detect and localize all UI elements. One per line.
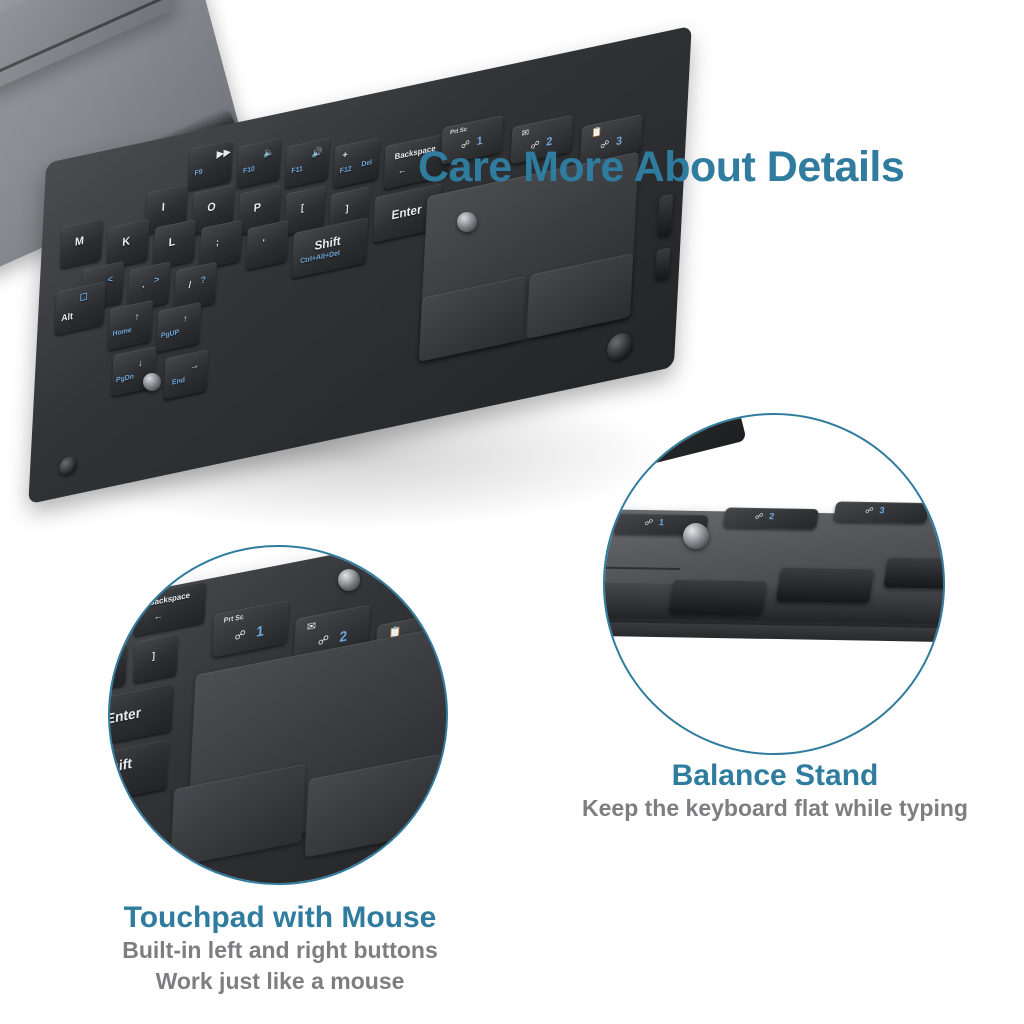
bluetooth-icon: ☍ bbox=[754, 512, 764, 521]
key-l[interactable]: L bbox=[153, 219, 196, 269]
mail-icon: ✉ bbox=[307, 619, 317, 634]
balance-stand-pad bbox=[669, 580, 767, 615]
inset-touchpad-scene: F12 Backspace ← [ ] Enter Shift Ctrl+Alt bbox=[110, 547, 446, 883]
callout-touchpad-caption: Touchpad with Mouse Built-in left and ri… bbox=[10, 900, 550, 996]
inset-balance-stand-circle: 1 ☍ 2 ☍ 3 ☍ Backspace bbox=[603, 413, 945, 755]
inset-pivot-screw bbox=[338, 569, 360, 591]
headline: Care More About Details bbox=[418, 143, 978, 192]
bluetooth-icon: ☍ bbox=[644, 518, 654, 527]
key-alt[interactable]: Alt ☐ bbox=[55, 281, 106, 335]
bluetooth-icon: ☍ bbox=[318, 633, 330, 649]
balance-stand-pad bbox=[776, 568, 874, 603]
prtsc-legend: Prt Sc bbox=[224, 614, 244, 625]
key-quote[interactable]: ' bbox=[246, 220, 289, 270]
key-f10[interactable]: F10 🔈 bbox=[236, 138, 281, 189]
bluetooth-number-3: 3 bbox=[879, 505, 886, 515]
bluetooth-number-2: 2 bbox=[339, 627, 348, 645]
bluetooth-number-1: 1 bbox=[256, 622, 265, 640]
balance-pivot-screw bbox=[683, 523, 709, 549]
callout-touchpad-subtitle-2: Work just like a mouse bbox=[10, 966, 550, 996]
balance-stand-pad bbox=[883, 558, 943, 589]
prtsc-legend: Prt Sc bbox=[450, 127, 467, 137]
inset-balance-scene: 1 ☍ 2 ☍ 3 ☍ Backspace bbox=[605, 415, 943, 753]
product-feature-graphic: F9 ▶▶ F10 🔈 F11 🔊 F12 Del + Backspac bbox=[0, 0, 1024, 1024]
key-f11[interactable]: F11 🔊 bbox=[285, 137, 330, 188]
callout-balance-title: Balance Stand bbox=[540, 758, 1010, 793]
bluetooth-number-1: 1 bbox=[658, 517, 665, 527]
key-arrow-up-pgup[interactable]: ↑ PgUP bbox=[156, 302, 201, 353]
inset-touchpad-circle: F12 Backspace ← [ ] Enter Shift Ctrl+Alt bbox=[108, 545, 448, 885]
calculator-icon: 📋 bbox=[591, 126, 603, 140]
balance-bluetooth-key-3[interactable]: 3 ☍ bbox=[833, 501, 929, 522]
key-k[interactable]: K bbox=[106, 219, 149, 269]
key-arrow-up-home[interactable]: ↑ Home bbox=[108, 300, 153, 351]
key-semicolon[interactable]: ; bbox=[199, 219, 242, 269]
bluetooth-icon: ☍ bbox=[234, 628, 246, 644]
callout-touchpad-title: Touchpad with Mouse bbox=[10, 900, 550, 935]
balance-bluetooth-key-2[interactable]: 2 ☍ bbox=[723, 507, 819, 528]
key-f12-del[interactable]: F12 Del + bbox=[333, 137, 380, 188]
inset-keyboard-deck: F12 Backspace ← [ ] Enter Shift Ctrl+Alt bbox=[110, 547, 446, 883]
key-f9[interactable]: F9 ▶▶ bbox=[188, 140, 233, 191]
callout-touchpad-subtitle-1: Built-in left and right buttons bbox=[10, 935, 550, 965]
pivot-screw bbox=[143, 373, 161, 391]
balance-keyboard-edge: 1 ☍ 2 ☍ 3 ☍ Backspace bbox=[605, 507, 943, 705]
balance-scene-corner-bleed bbox=[605, 415, 747, 486]
bluetooth-number-2: 2 bbox=[768, 511, 775, 521]
key-m[interactable]: M bbox=[60, 218, 103, 268]
pivot-screw bbox=[457, 212, 477, 232]
callout-balance-subtitle-1: Keep the keyboard flat while typing bbox=[540, 793, 1010, 823]
key-arrow-right-end[interactable]: → End bbox=[163, 349, 208, 400]
callout-balance-caption: Balance Stand Keep the keyboard flat whi… bbox=[540, 758, 1010, 824]
inset-pivot-screw-lower bbox=[124, 815, 142, 833]
bluetooth-icon: ☍ bbox=[865, 506, 875, 515]
side-button[interactable] bbox=[655, 247, 670, 281]
mail-icon: ✉ bbox=[521, 127, 529, 140]
side-button[interactable] bbox=[657, 193, 673, 237]
balance-bt-strip: 1 ☍ 2 ☍ 3 ☍ bbox=[613, 504, 943, 535]
